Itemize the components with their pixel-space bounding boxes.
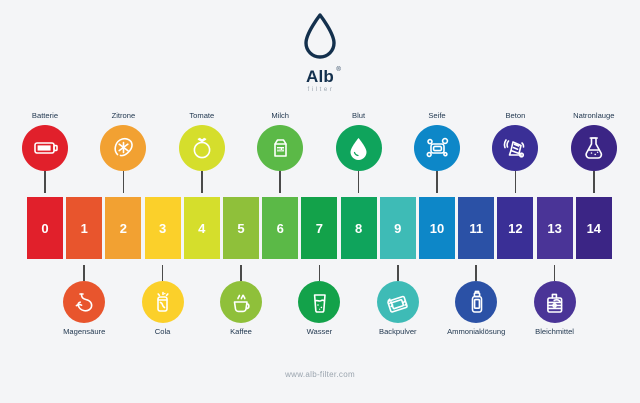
ph-item-label: Tomate xyxy=(189,112,214,120)
ph-bar-label: 0 xyxy=(41,221,48,236)
brand-name: Alb xyxy=(306,67,334,86)
ph-bar-label: 5 xyxy=(237,221,244,236)
ph-bar-10[interactable]: 10 xyxy=(419,197,455,259)
ph-item-label: Magensäure xyxy=(63,328,105,336)
flask-icon[interactable] xyxy=(571,125,617,171)
ph-item-label: Milch xyxy=(271,112,289,120)
connector-stem xyxy=(123,171,125,193)
battery-icon[interactable] xyxy=(22,125,68,171)
ph-item-label: Blut xyxy=(352,112,365,120)
footer-url: www.alb-filter.com xyxy=(0,370,640,379)
ph-bar-label: 12 xyxy=(508,221,522,236)
baking-powder-icon[interactable] xyxy=(377,281,419,323)
connector-stem xyxy=(319,265,321,281)
ph-item-bleichmittel[interactable]: Bleichmittel xyxy=(505,265,605,336)
ph-bar-label: 1 xyxy=(81,221,88,236)
ph-bar-label: 2 xyxy=(120,221,127,236)
connector-stem xyxy=(593,171,595,193)
connector-stem xyxy=(436,171,438,193)
ph-bar-13[interactable]: 13 xyxy=(537,197,573,259)
ph-item-label: Bleichmittel xyxy=(535,328,574,336)
ph-bar-3[interactable]: 3 xyxy=(145,197,181,259)
ph-bar-12[interactable]: 12 xyxy=(497,197,533,259)
ph-scale-infographic: Alb® filter 01234567891011121314 Batteri… xyxy=(0,0,640,403)
soap-icon[interactable] xyxy=(414,125,460,171)
brand-tagline: filter xyxy=(306,87,335,93)
concrete-mixer-icon[interactable] xyxy=(492,125,538,171)
ph-item-label: Ammoniaklösung xyxy=(447,328,505,336)
brand-logo: Alb® filter xyxy=(0,12,640,93)
ph-bar-4[interactable]: 4 xyxy=(184,197,220,259)
ph-item-label: Zitrone xyxy=(112,112,136,120)
blood-drop-icon[interactable] xyxy=(336,125,382,171)
ph-bar-label: 7 xyxy=(316,221,323,236)
connector-stem xyxy=(83,265,85,281)
lemon-icon[interactable] xyxy=(100,125,146,171)
water-glass-icon[interactable] xyxy=(298,281,340,323)
brand-wordmark: Alb® xyxy=(306,68,334,85)
ph-item-label: Wasser xyxy=(307,328,332,336)
bleach-jug-icon[interactable] xyxy=(534,281,576,323)
ph-bar-6[interactable]: 6 xyxy=(262,197,298,259)
ph-bar-scale: 01234567891011121314 xyxy=(27,197,613,259)
ph-bar-label: 3 xyxy=(159,221,166,236)
connector-stem xyxy=(515,171,517,193)
connector-stem xyxy=(240,265,242,281)
ph-bar-label: 14 xyxy=(587,221,601,236)
connector-stem xyxy=(397,265,399,281)
ph-item-label: Backpulver xyxy=(379,328,417,336)
ph-bar-11[interactable]: 11 xyxy=(458,197,494,259)
ph-bar-2[interactable]: 2 xyxy=(105,197,141,259)
tomato-icon[interactable] xyxy=(179,125,225,171)
connector-stem xyxy=(358,171,360,193)
stomach-icon[interactable] xyxy=(63,281,105,323)
ph-bar-label: 10 xyxy=(430,221,444,236)
connector-stem xyxy=(44,171,46,193)
ph-item-label: Batterie xyxy=(32,112,58,120)
registered-mark: ® xyxy=(336,67,341,73)
ph-bar-14[interactable]: 14 xyxy=(576,197,612,259)
ph-bar-label: 4 xyxy=(198,221,205,236)
ph-bar-label: 13 xyxy=(547,221,561,236)
connector-stem xyxy=(554,265,556,281)
milk-carton-icon[interactable]: MILK xyxy=(257,125,303,171)
ph-item-label: Kaffee xyxy=(230,328,252,336)
connector-stem xyxy=(201,171,203,193)
ph-bar-label: 11 xyxy=(469,221,483,236)
ph-item-label: Natronlauge xyxy=(573,112,614,120)
ph-bar-label: 8 xyxy=(355,221,362,236)
soda-can-icon[interactable] xyxy=(142,281,184,323)
connector-stem xyxy=(279,171,281,193)
spray-bottle-icon[interactable] xyxy=(455,281,497,323)
ph-item-label: Cola xyxy=(155,328,171,336)
ph-item-natronlauge[interactable]: Natronlauge xyxy=(544,112,640,193)
ph-bar-label: 6 xyxy=(277,221,284,236)
ph-bar-7[interactable]: 7 xyxy=(301,197,337,259)
svg-text:MILK: MILK xyxy=(276,148,284,152)
ph-bar-1[interactable]: 1 xyxy=(66,197,102,259)
coffee-cup-icon[interactable] xyxy=(220,281,262,323)
ph-bar-9[interactable]: 9 xyxy=(380,197,416,259)
ph-bar-label: 9 xyxy=(394,221,401,236)
water-drop-icon xyxy=(303,12,337,65)
connector-stem xyxy=(475,265,477,281)
ph-bar-0[interactable]: 0 xyxy=(27,197,63,259)
ph-item-label: Beton xyxy=(505,112,525,120)
connector-stem xyxy=(162,265,164,281)
ph-bar-8[interactable]: 8 xyxy=(341,197,377,259)
ph-item-label: Seife xyxy=(428,112,445,120)
ph-bar-5[interactable]: 5 xyxy=(223,197,259,259)
